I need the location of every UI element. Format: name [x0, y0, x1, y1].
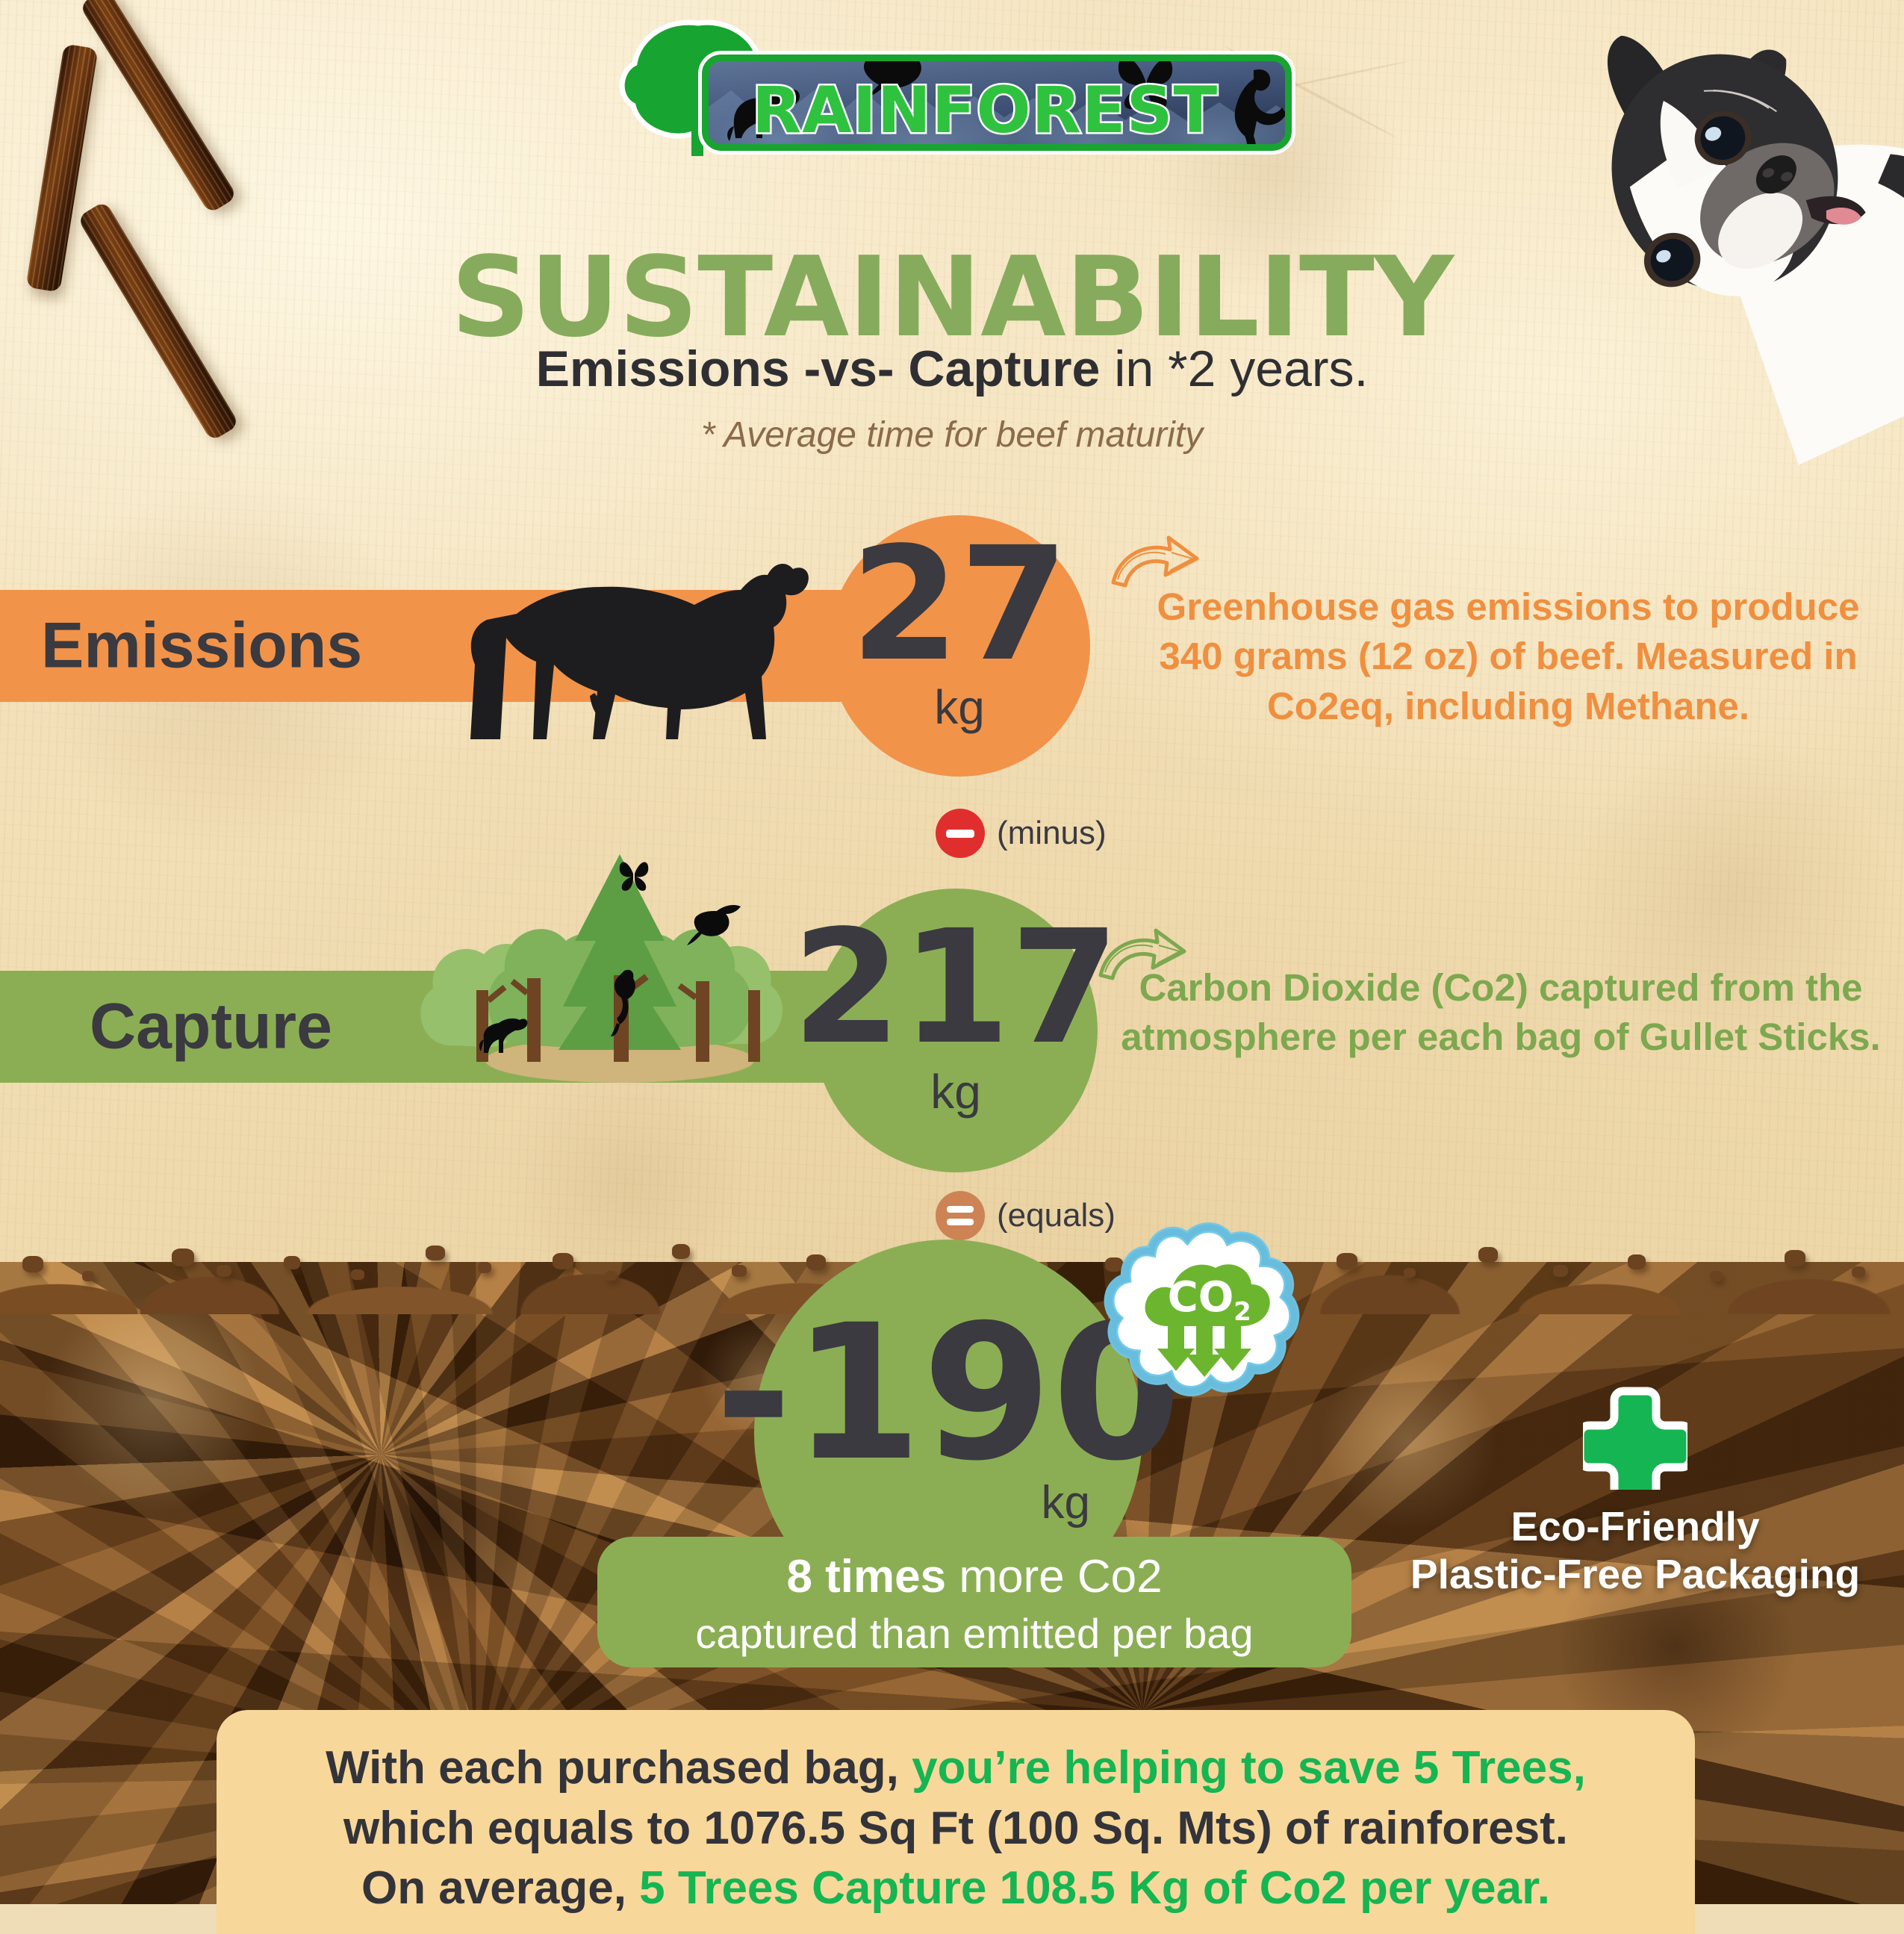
pill-line-2: captured than emitted per bag — [695, 1609, 1253, 1658]
minus-circle-icon — [936, 809, 985, 858]
banner-line-3-a: On average, — [361, 1862, 639, 1914]
subtitle-emphasis: Emissions -vs- Capture — [536, 341, 1101, 397]
banner-line-2: which equals to 1076.5 Sq Ft (100 Sq. Mt… — [251, 1799, 1661, 1859]
forest-icon — [403, 844, 836, 1083]
equals-operator: (equals) — [936, 1191, 1116, 1240]
page-subtitle: Emissions -vs- Capture in *2 years. — [0, 340, 1904, 398]
monkey-icon — [1215, 64, 1289, 151]
emissions-label: Emissions — [41, 609, 362, 683]
banner-line-3: On average, 5 Trees Capture 108.5 Kg of … — [251, 1859, 1661, 1919]
pill-line-1: 8 times more Co2 — [786, 1550, 1162, 1603]
bottom-banner: With each purchased bag, you’re helping … — [217, 1710, 1695, 1934]
capture-label: Capture — [90, 990, 332, 1064]
page-footnote: * Average time for beef maturity — [0, 414, 1904, 455]
emissions-description: Greenhouse gas emissions to produce 340 … — [1120, 582, 1897, 731]
green-cross-icon — [1583, 1385, 1687, 1490]
banner-line-1-a: With each purchased bag, — [326, 1742, 912, 1794]
eco-friendly-badge: Eco-Friendly Plastic-Free Packaging — [1374, 1385, 1897, 1599]
emissions-value-circle: 27 kg — [829, 515, 1090, 777]
eco-line-2: Plastic-Free Packaging — [1374, 1551, 1897, 1599]
subtitle-rest: in *2 years. — [1100, 341, 1368, 397]
banner-line-1-b: you’re helping to save 5 Trees, — [912, 1742, 1586, 1794]
eco-line-1: Eco-Friendly — [1374, 1503, 1897, 1551]
svg-text:CO: CO — [1168, 1273, 1234, 1322]
result-unit: kg — [1042, 1476, 1090, 1529]
capture-unit: kg — [930, 1064, 981, 1119]
emissions-unit: kg — [934, 680, 985, 735]
emissions-value: 27 — [850, 538, 1068, 673]
logo-wordmark: RAINFOREST — [752, 73, 1218, 148]
pill-emphasis: 8 times — [786, 1551, 946, 1602]
minus-label: (minus) — [997, 815, 1107, 852]
equals-circle-icon — [936, 1191, 985, 1240]
capture-description: Carbon Dioxide (Co2) captured from the a… — [1113, 963, 1889, 1063]
pill-rest: more Co2 — [946, 1551, 1162, 1602]
svg-text:2: 2 — [1233, 1297, 1251, 1327]
capture-value-circle: 217 kg — [814, 889, 1098, 1172]
result-pill: 8 times more Co2 captured than emitted p… — [597, 1537, 1351, 1667]
logo-subword: saver — [955, 142, 1057, 151]
logo-plate: RAINFOREST saver — [702, 55, 1292, 151]
minus-operator: (minus) — [936, 809, 1107, 858]
cow-icon — [448, 515, 814, 762]
brand-logo[interactable]: RAINFOREST saver — [597, 19, 1292, 157]
banner-line-1: With each purchased bag, you’re helping … — [251, 1738, 1661, 1799]
co2-cloud-icon: CO 2 — [1096, 1216, 1305, 1421]
banner-line-3-b: 5 Trees Capture 108.5 Kg of Co2 per year… — [639, 1862, 1550, 1914]
capture-value: 217 — [792, 921, 1119, 1056]
